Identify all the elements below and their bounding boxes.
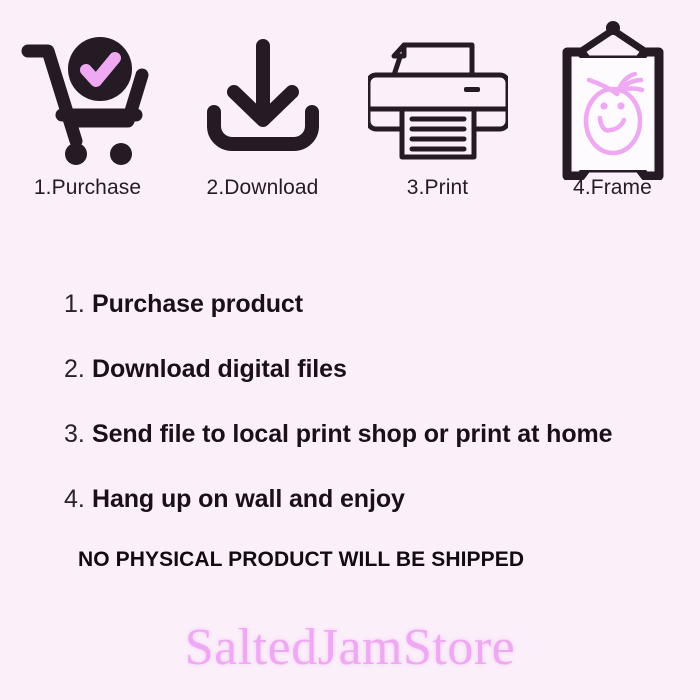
list-item: 1. Purchase product [64, 272, 664, 337]
list-item-text: Download digital files [92, 355, 347, 384]
list-item-number: 1. [64, 290, 92, 319]
steps-strip: 1.Purchase 2.Download [0, 0, 700, 200]
step-label-purchase: 1.Purchase [34, 176, 141, 200]
step-label-print: 3.Print [407, 176, 468, 200]
step-frame: 4.Frame [533, 24, 693, 200]
printer-icon [368, 29, 508, 169]
list-item-number: 3. [64, 420, 92, 449]
step-art-download [198, 24, 328, 174]
list-item: 2. Download digital files [64, 337, 664, 402]
step-art-print [368, 24, 508, 174]
list-item-number: 2. [64, 355, 92, 384]
step-art-purchase [18, 24, 158, 174]
step-purchase: 1.Purchase [8, 24, 168, 200]
shipping-disclaimer: NO PHYSICAL PRODUCT WILL BE SHIPPED [78, 548, 524, 572]
framed-picture-icon [547, 18, 679, 180]
list-item-number: 4. [64, 485, 92, 514]
list-item: 4. Hang up on wall and enjoy [64, 467, 664, 532]
step-art-frame [547, 24, 679, 174]
list-item-text: Send file to local print shop or print a… [92, 420, 612, 449]
download-tray-icon [198, 34, 328, 164]
shopping-cart-check-icon [18, 29, 158, 169]
list-item-text: Purchase product [92, 290, 303, 319]
list-item: 3. Send file to local print shop or prin… [64, 402, 664, 467]
step-print: 3.Print [358, 24, 518, 200]
step-label-frame: 4.Frame [573, 176, 652, 200]
step-download: 2.Download [183, 24, 343, 200]
instructions-list: 1. Purchase product 2. Download digital … [64, 272, 664, 532]
list-item-text: Hang up on wall and enjoy [92, 485, 405, 514]
step-label-download: 2.Download [207, 176, 319, 200]
store-signature: SaltedJamStore [0, 618, 700, 677]
